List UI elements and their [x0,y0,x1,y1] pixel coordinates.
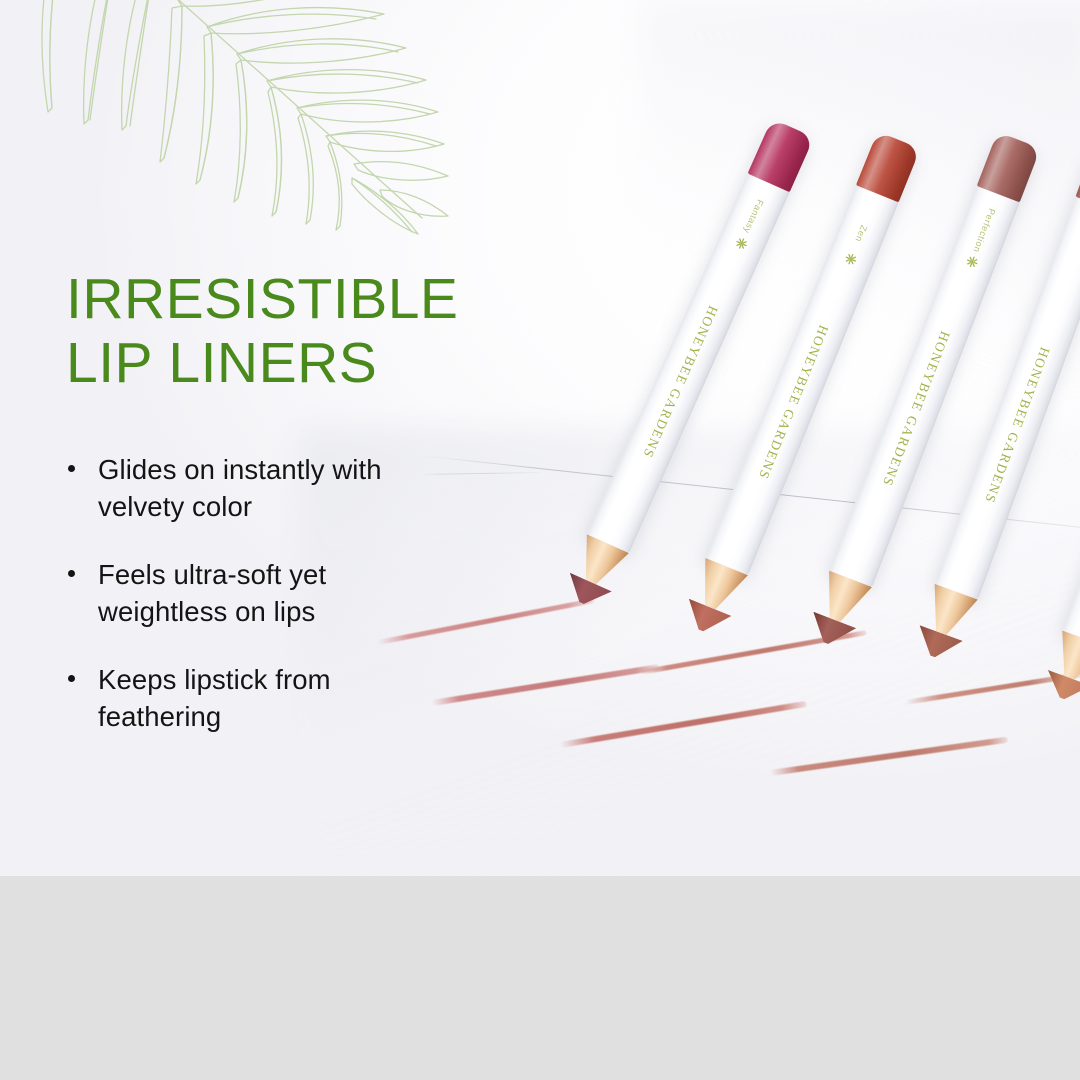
product-promo-image: Fantasy HONEYBEE GARDENS [0,0,1080,1080]
product-photo: Fantasy HONEYBEE GARDENS [0,0,1080,876]
list-item: Glides on instantly with velvety color [60,452,400,525]
bullet-dot-icon [68,570,75,577]
list-item: Feels ultra-soft yet weightless on lips [60,557,400,630]
bullet-text: Keeps lipstick from feathering [98,664,331,732]
benefits-list: Glides on instantly with velvety color F… [60,452,400,735]
bullet-text: Glides on instantly with velvety color [98,454,382,522]
headline-line-1: IRRESISTIBLE [66,268,496,332]
list-item: Keeps lipstick from feathering [60,662,400,735]
headline-line-2: LIP LINERS [66,332,496,396]
background-shading [300,430,1080,876]
bullet-text: Feels ultra-soft yet weightless on lips [98,559,326,627]
footer-band [0,876,1080,1080]
bullet-dot-icon [68,465,75,472]
page-title: IRRESISTIBLE LIP LINERS [66,268,496,396]
bullet-dot-icon [68,675,75,682]
